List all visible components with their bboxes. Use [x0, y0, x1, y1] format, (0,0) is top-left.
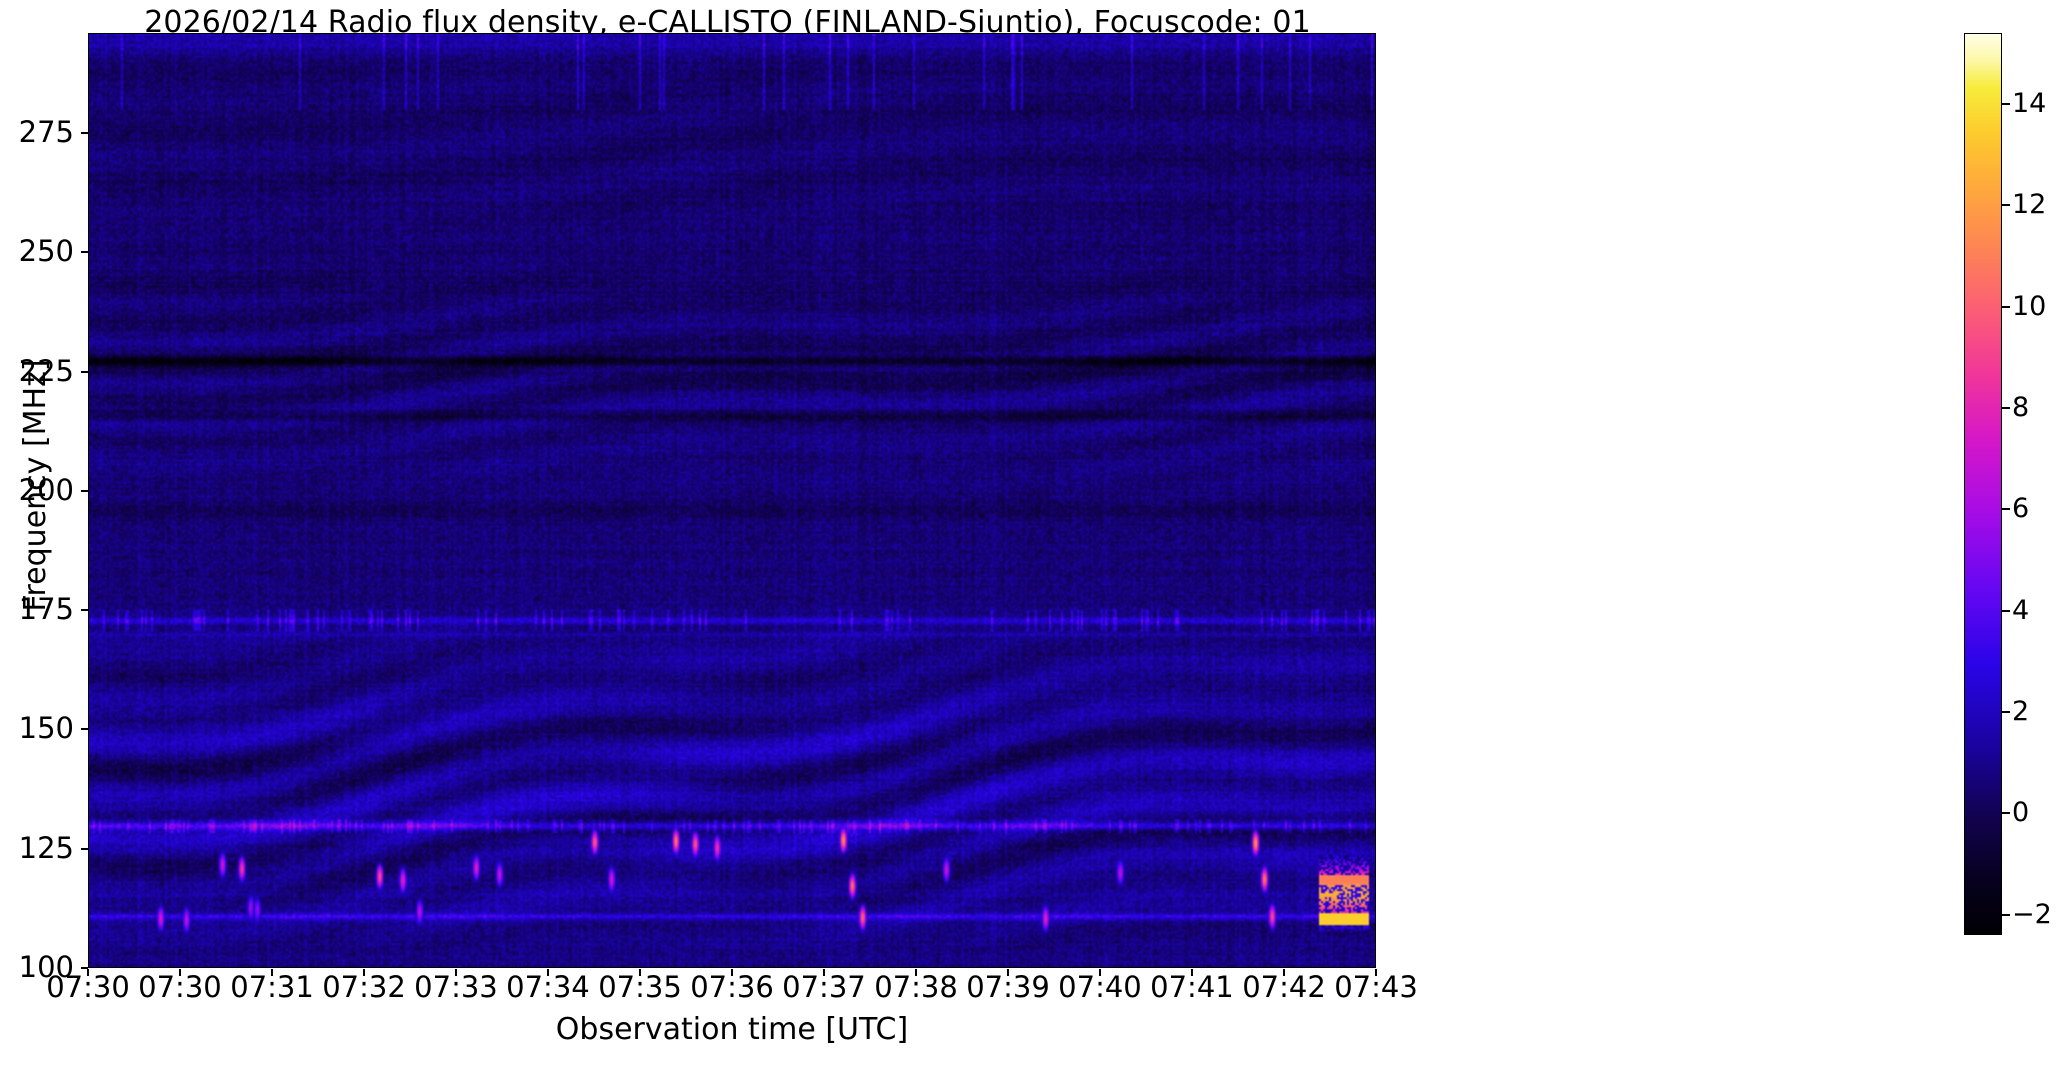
y-axis-tick-label: 175 — [0, 595, 74, 624]
y-axis-tick-mark — [81, 728, 88, 730]
spectrogram-figure: 2026/02/14 Radio flux density, e-CALLIST… — [0, 0, 2066, 1067]
colorbar-tick-label: −2 — [2012, 901, 2052, 928]
x-axis-tick-mark — [639, 969, 641, 976]
colorbar-tick-mark — [2002, 103, 2010, 105]
x-axis-tick-mark — [1375, 969, 1377, 976]
x-axis-tick-mark — [1283, 969, 1285, 976]
colorbar-tick-label: 14 — [2012, 90, 2046, 117]
colorbar-tick-mark — [2002, 914, 2010, 916]
colorbar-tick-label: 0 — [2012, 799, 2029, 826]
y-axis-tick-mark — [81, 251, 88, 253]
x-axis-tick-mark — [731, 969, 733, 976]
y-axis-tick-label: 125 — [0, 834, 74, 863]
colorbar-tick-mark — [2002, 812, 2010, 814]
x-axis-tick-mark — [179, 969, 181, 976]
y-axis-tick-label: 200 — [0, 476, 74, 505]
x-axis-tick-mark — [823, 969, 825, 976]
colorbar-tick-mark — [2002, 610, 2010, 612]
spectrogram-image — [89, 34, 1376, 968]
x-axis-tick-mark — [455, 969, 457, 976]
colorbar-tick-label: 12 — [2012, 191, 2046, 218]
colorbar-tick-mark — [2002, 711, 2010, 713]
colorbar-tick-mark — [2002, 407, 2010, 409]
y-axis-tick-label: 225 — [0, 357, 74, 386]
colorbar-tick-label: 6 — [2012, 495, 2029, 522]
x-axis-tick-mark — [547, 969, 549, 976]
y-axis-tick-mark — [81, 371, 88, 373]
spectrogram-plot-area — [88, 33, 1376, 968]
x-axis-tick-mark — [87, 969, 89, 976]
y-axis-tick-mark — [81, 848, 88, 850]
x-axis-tick-mark — [363, 969, 365, 976]
x-axis-tick-mark — [271, 969, 273, 976]
colorbar-tick-label: 10 — [2012, 293, 2046, 320]
x-axis-tick-mark — [1099, 969, 1101, 976]
colorbar-tick-mark — [2002, 306, 2010, 308]
colorbar — [1964, 33, 2002, 935]
y-axis-tick-label: 150 — [0, 714, 74, 743]
x-axis-tick-mark — [1191, 969, 1193, 976]
y-axis-tick-label: 250 — [0, 237, 74, 266]
y-axis-tick-label: 275 — [0, 118, 74, 147]
x-axis-tick-mark — [1007, 969, 1009, 976]
colorbar-tick-label: 8 — [2012, 394, 2029, 421]
y-axis-tick-mark — [81, 132, 88, 134]
y-axis-tick-mark — [81, 490, 88, 492]
colorbar-tick-mark — [2002, 508, 2010, 510]
colorbar-tick-mark — [2002, 204, 2010, 206]
colorbar-tick-label: 2 — [2012, 698, 2029, 725]
y-axis-tick-mark — [81, 609, 88, 611]
x-axis-tick-mark — [915, 969, 917, 976]
colorbar-tick-label: 4 — [2012, 597, 2029, 624]
x-axis-label: Observation time [UTC] — [88, 1012, 1376, 1047]
